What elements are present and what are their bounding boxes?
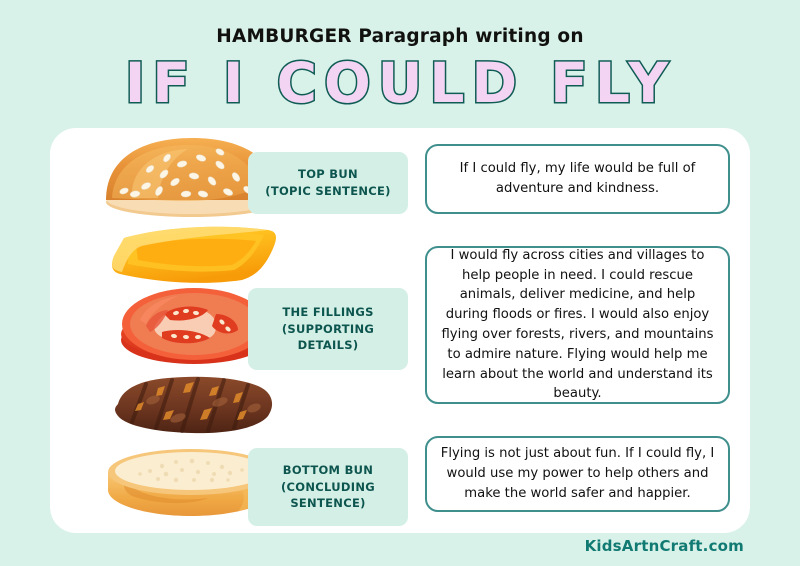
chip-fillings-line2: (SUPPORTING bbox=[282, 321, 374, 338]
chip-fillings-line1: THE FILLINGS bbox=[282, 304, 374, 321]
chip-top-bun-line1: TOP BUN bbox=[265, 166, 390, 183]
chip-top-bun[interactable]: TOP BUN (TOPIC SENTENCE) bbox=[248, 152, 408, 214]
brand-watermark[interactable]: KidsArtnCraft.com bbox=[585, 537, 744, 555]
page-subtitle: HAMBURGER Paragraph writing on bbox=[0, 28, 800, 47]
meat-patty-icon bbox=[108, 374, 278, 436]
topic-sentence-text: If I could fly, my life would be full of… bbox=[439, 159, 716, 199]
concluding-sentence-text: Flying is not just about fun. If I could… bbox=[439, 444, 716, 503]
supporting-details-text: I would fly across cities and villages t… bbox=[439, 246, 716, 404]
textbox-topic-sentence[interactable]: If I could fly, my life would be full of… bbox=[425, 144, 730, 214]
chip-bottom-bun-line1: BOTTOM BUN bbox=[281, 462, 375, 479]
textbox-concluding-sentence[interactable]: Flying is not just about fun. If I could… bbox=[425, 436, 730, 512]
chip-top-bun-line2: (TOPIC SENTENCE) bbox=[265, 183, 390, 200]
chip-fillings[interactable]: THE FILLINGS (SUPPORTING DETAILS) bbox=[248, 288, 408, 370]
textbox-supporting-details[interactable]: I would fly across cities and villages t… bbox=[425, 246, 730, 404]
page-title: IF I COULD FLY bbox=[0, 56, 800, 111]
chip-bottom-bun-line2: (CONCLUDING bbox=[281, 479, 375, 496]
cheese-slice-icon bbox=[106, 224, 282, 286]
chip-bottom-bun[interactable]: BOTTOM BUN (CONCLUDING SENTENCE) bbox=[248, 448, 408, 526]
chip-fillings-line3: DETAILS) bbox=[282, 337, 374, 354]
page-header: HAMBURGER Paragraph writing on IF I COUL… bbox=[0, 0, 800, 111]
chip-bottom-bun-line3: SENTENCE) bbox=[281, 495, 375, 512]
content-card: TOP BUN (TOPIC SENTENCE) THE FILLINGS (S… bbox=[50, 128, 750, 533]
